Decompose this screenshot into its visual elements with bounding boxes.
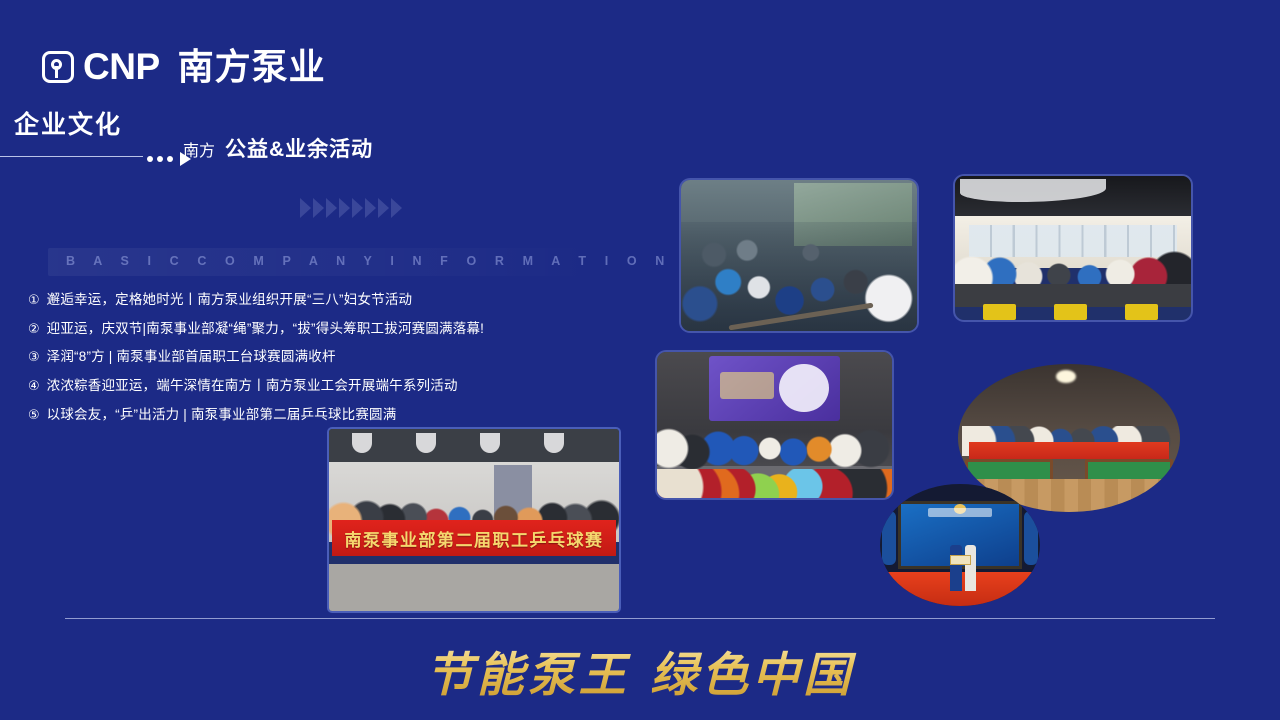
chevron-decoration [300,198,402,218]
photo-lamp-icon [480,433,500,453]
list-item: ② 迎亚运，庆双节|南泵事业部凝“绳”聚力，“拔”得头筹职工拔河赛圆满落幕! [28,321,628,337]
chevron-right-icon [313,198,324,218]
activity-list: ① 邂逅幸运，定格她时光丨南方泵业组织开展“三八”妇女节活动 ② 迎亚运，庆双节… [28,292,628,435]
footer-divider [65,618,1215,619]
list-item-label: 邂逅幸运，定格她时光丨南方泵业组织开展“三八”妇女节活动 [47,292,413,308]
chevron-right-icon [300,198,311,218]
ping-pong-group-photo: 南泵事业部第二届职工乒乓球赛 [329,429,619,611]
photo-content [681,180,917,331]
photo-screen-text-layer [928,508,992,517]
watermark-text: B A S I C C O M P A N Y I N F O R M A T … [66,254,672,268]
page-title: 公益&业余活动 [225,133,373,163]
cnp-pump-logo-icon [42,51,74,83]
dot-icon [167,156,173,162]
dot-icon [147,156,153,162]
photo-banner-layer [969,442,1169,458]
photo-ceiling-layer [329,429,619,465]
section-subtitle-prefix: 南方 [183,137,215,161]
slide-root: CNP 南方泵业 企业文化 南方 公益&业余活动 B A S I C C O M… [0,0,1280,720]
cooking-event-photo [955,176,1191,320]
list-item-label: 迎亚运，庆双节|南泵事业部凝“绳”聚力，“拔”得头筹职工拔河赛圆满落幕! [47,321,484,337]
list-item: ⑤ 以球会友，“乒”出活力 | 南泵事业部第二届乒乓球比赛圆满 [28,407,628,423]
photo-person-layer [965,545,976,591]
photo-chair-layer [1125,304,1158,320]
chevron-right-icon [365,198,376,218]
photo-banner-text: 南泵事业部第二届职工乒乓球赛 [344,526,603,551]
list-item-label: 浓浓粽香迎亚运，端午深情在南方丨南方泵业工会开展端午系列活动 [47,378,458,394]
dot-icon [157,156,163,162]
list-item-number: ④ [28,380,40,393]
photo-lamp-icon [352,433,372,453]
list-item-label: 以球会友，“乒”出活力 | 南泵事业部第二届乒乓球比赛圆满 [47,407,397,423]
photo-side-panel-layer [882,511,896,565]
photo-certificate-layer [950,555,971,565]
photo-ceiling-light-layer [1056,370,1076,383]
list-item-number: ⑤ [28,409,40,422]
photo-person-layer [950,545,961,591]
brand-latin-text: CNP [83,48,160,85]
photo-lamp-icon [416,433,436,453]
chevron-right-icon [378,198,389,218]
brand-logo: CNP 南方泵业 [42,48,326,85]
list-item: ① 邂逅幸运，定格她时光丨南方泵业组织开展“三八”妇女节活动 [28,292,628,308]
photo-lamp-icon [544,433,564,453]
list-item: ④ 浓浓粽香迎亚运，端午深情在南方丨南方泵业工会开展端午系列活动 [28,378,628,394]
brand-chinese-text: 南方泵业 [178,49,326,85]
photo-side-panel-layer [1024,511,1038,565]
list-item-number: ③ [28,351,40,364]
photo-banner-layer: 南泵事业部第二届职工乒乓球赛 [332,520,616,556]
photo-balloons-layer [657,469,892,498]
photo-chair-layer [1054,304,1087,320]
photo-floor-layer [329,564,619,611]
chevron-right-icon [326,198,337,218]
chevron-right-icon [352,198,363,218]
list-item-number: ② [28,323,40,336]
footer-slogan: 节能泵王 绿色中国 [0,636,1280,705]
list-item-number: ① [28,294,40,307]
photo-content [880,484,1040,606]
chevron-right-icon [391,198,402,218]
photo-content [657,352,892,498]
photo-screen-text-layer [720,372,774,398]
chevron-right-icon [339,198,350,218]
list-item: ③ 泽润“8”方 | 南泵事业部首届职工台球赛圆满收杆 [28,349,628,365]
photo-content [955,176,1191,320]
section-label: 企业文化 [14,112,122,140]
photo-moon-layer [779,364,828,412]
section-rule [0,156,143,157]
award-ceremony-photo [880,484,1040,606]
party-balloons-photo [657,352,892,498]
photo-chair-layer [983,304,1016,320]
tug-of-war-photo [681,180,917,331]
list-item-label: 泽润“8”方 | 南泵事业部首届职工台球赛圆满收杆 [47,349,336,365]
photo-content: 南泵事业部第二届职工乒乓球赛 [329,429,619,611]
